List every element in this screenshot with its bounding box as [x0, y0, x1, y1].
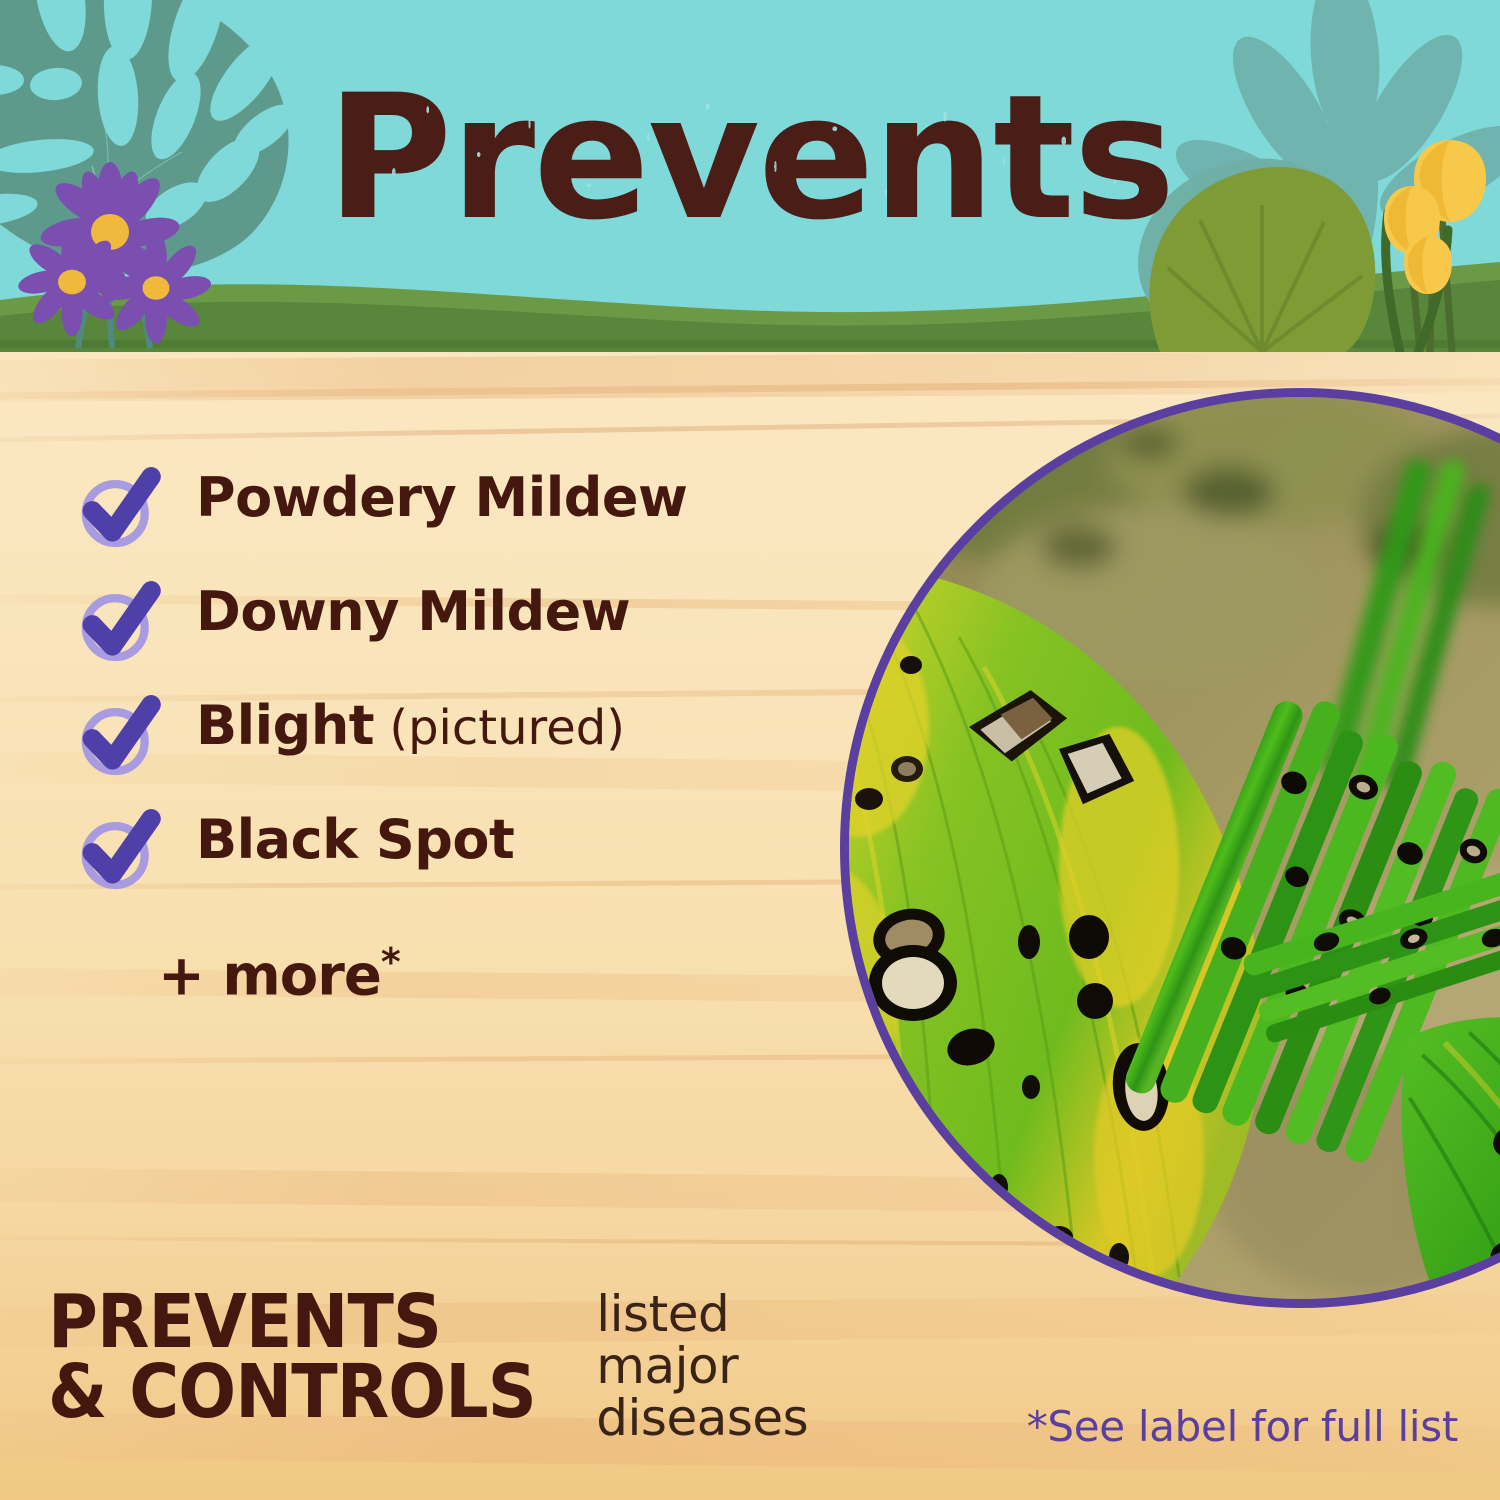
- list-item: Black Spot: [72, 804, 832, 918]
- check-icon: [72, 804, 164, 896]
- subtext-line-3: diseases: [596, 1392, 808, 1444]
- subtext-line-2: major: [596, 1340, 808, 1392]
- list-item: Blight (pictured): [72, 690, 832, 804]
- subtext-line-1: listed: [596, 1288, 808, 1340]
- bottom-headline: PREVENTS & CONTROLS: [48, 1288, 536, 1427]
- leaf-photo-illustration: [849, 397, 1500, 1299]
- infographic-canvas: Prevents Powdery Mildew Downy Mildew: [0, 0, 1500, 1500]
- check-icon: [72, 690, 164, 782]
- check-icon: [72, 462, 164, 554]
- list-item: Downy Mildew: [72, 576, 832, 690]
- prevented-diseases-list: Powdery Mildew Downy Mildew Blight (pict…: [72, 462, 832, 918]
- check-icon: [72, 576, 164, 668]
- headline-line-1: PREVENTS: [48, 1288, 536, 1358]
- page-title: Prevents: [0, 72, 1500, 244]
- header-banner: Prevents: [0, 0, 1500, 352]
- flower-center: [143, 276, 170, 300]
- footnote: *See label for full list: [1027, 1402, 1458, 1451]
- more-diseases-label: + more*: [158, 940, 400, 1009]
- tulip-bloom: [1404, 236, 1452, 294]
- list-item: Powdery Mildew: [72, 462, 832, 576]
- bottom-subtext: listed major diseases: [596, 1288, 808, 1444]
- disease-photo-frame: [840, 388, 1500, 1308]
- bottom-claim: PREVENTS & CONTROLS listed major disease…: [48, 1288, 808, 1444]
- list-item-label: Black Spot: [196, 808, 514, 871]
- disease-photo: [840, 388, 1500, 1308]
- list-item-label: Blight (pictured): [196, 694, 625, 757]
- headline-line-2: & CONTROLS: [48, 1358, 536, 1428]
- flower-center: [58, 270, 86, 295]
- list-item-label: Powdery Mildew: [196, 466, 687, 529]
- list-item-label: Downy Mildew: [196, 580, 630, 643]
